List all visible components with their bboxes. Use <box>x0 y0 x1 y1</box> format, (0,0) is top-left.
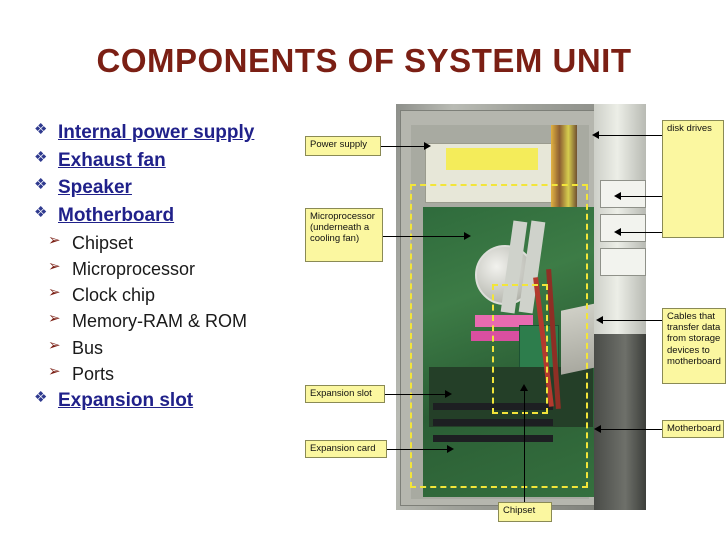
leader-line-power-supply <box>381 146 426 147</box>
list-item: ❖ Motherboard <box>34 203 324 229</box>
arrow-bullet-icon: ➢ <box>48 283 72 303</box>
list-item: ➢ Clock chip <box>48 283 324 307</box>
list-item: ➢ Microprocessor <box>48 257 324 281</box>
diamond-bullet-icon: ❖ <box>34 148 58 168</box>
drive-bay <box>600 180 646 208</box>
arrow-bullet-icon: ➢ <box>48 257 72 277</box>
arrow-head-motherboard <box>594 425 601 433</box>
leader-line-expansion-slot <box>385 394 447 395</box>
list-item: ❖ Internal power supply <box>34 120 324 146</box>
list-item: ❖ Expansion slot <box>34 388 324 414</box>
diamond-bullet-icon: ❖ <box>34 203 58 223</box>
arrow-bullet-icon: ➢ <box>48 309 72 329</box>
arrow-bullet-icon: ➢ <box>48 336 72 356</box>
list-item-label: Exhaust fan <box>58 148 324 174</box>
list-item: ❖ Speaker <box>34 175 324 201</box>
leader-line-cables <box>602 320 662 321</box>
diamond-bullet-icon: ❖ <box>34 175 58 195</box>
arrow-head-cables <box>596 316 603 324</box>
slide: COMPONENTS OF SYSTEM UNIT ❖ Internal pow… <box>0 0 728 546</box>
arrow-head-disk-drives-2 <box>614 192 621 200</box>
leader-line-disk-drives-2 <box>620 196 662 197</box>
callout-power-supply: Power supply <box>305 136 381 156</box>
leader-line-motherboard <box>600 429 662 430</box>
list-item-label: Ports <box>72 362 324 386</box>
list-item: ➢ Memory-RAM & ROM <box>48 309 324 333</box>
list-item: ➢ Ports <box>48 362 324 386</box>
list-item-label: Speaker <box>58 175 324 201</box>
leader-line-disk-drives-3 <box>620 232 662 233</box>
chipset-highlight-rect <box>492 284 548 414</box>
callout-microprocessor: Microprocessor (underneath a cooling fan… <box>305 208 383 262</box>
callout-chipset: Chipset <box>498 502 552 522</box>
arrow-bullet-icon: ➢ <box>48 231 72 251</box>
list-item-label: Clock chip <box>72 283 324 307</box>
arrow-head-power-supply <box>424 142 431 150</box>
callout-motherboard: Motherboard <box>662 420 724 438</box>
leader-line-disk-drives-1 <box>598 135 662 136</box>
arrow-head-microprocessor <box>464 232 471 240</box>
leader-line-microprocessor <box>383 236 466 237</box>
bullet-list: ❖ Internal power supply ❖ Exhaust fan ❖ … <box>34 120 324 416</box>
callout-disk-drives: disk drives <box>662 120 724 238</box>
list-item: ❖ Exhaust fan <box>34 148 324 174</box>
leader-line-chipset <box>524 390 525 502</box>
list-item-label: Internal power supply <box>58 120 324 146</box>
callout-expansion-slot: Expansion slot <box>305 385 385 403</box>
page-title: COMPONENTS OF SYSTEM UNIT <box>0 42 728 80</box>
list-item: ➢ Chipset <box>48 231 324 255</box>
leader-line-expansion-card <box>387 449 449 450</box>
list-item-label: Bus <box>72 336 324 360</box>
list-item: ➢ Bus <box>48 336 324 360</box>
arrow-head-disk-drives-1 <box>592 131 599 139</box>
list-item-label: Memory-RAM & ROM <box>72 309 324 333</box>
arrow-head-expansion-slot <box>445 390 452 398</box>
list-item-label: Motherboard <box>58 203 324 229</box>
list-item-label: Expansion slot <box>58 388 324 414</box>
arrow-bullet-icon: ➢ <box>48 362 72 382</box>
case-front-lower <box>594 334 646 510</box>
arrow-head-expansion-card <box>447 445 454 453</box>
drive-bay <box>600 248 646 276</box>
psu-warning-sticker <box>446 148 538 170</box>
arrow-head-chipset <box>520 384 528 391</box>
arrow-head-disk-drives-3 <box>614 228 621 236</box>
diamond-bullet-icon: ❖ <box>34 388 58 408</box>
drive-bay <box>600 214 646 242</box>
list-item-label: Chipset <box>72 231 324 255</box>
callout-expansion-card: Expansion card <box>305 440 387 458</box>
list-item-label: Microprocessor <box>72 257 324 281</box>
diamond-bullet-icon: ❖ <box>34 120 58 140</box>
callout-cables: Cables that transfer data from storage d… <box>662 308 726 384</box>
